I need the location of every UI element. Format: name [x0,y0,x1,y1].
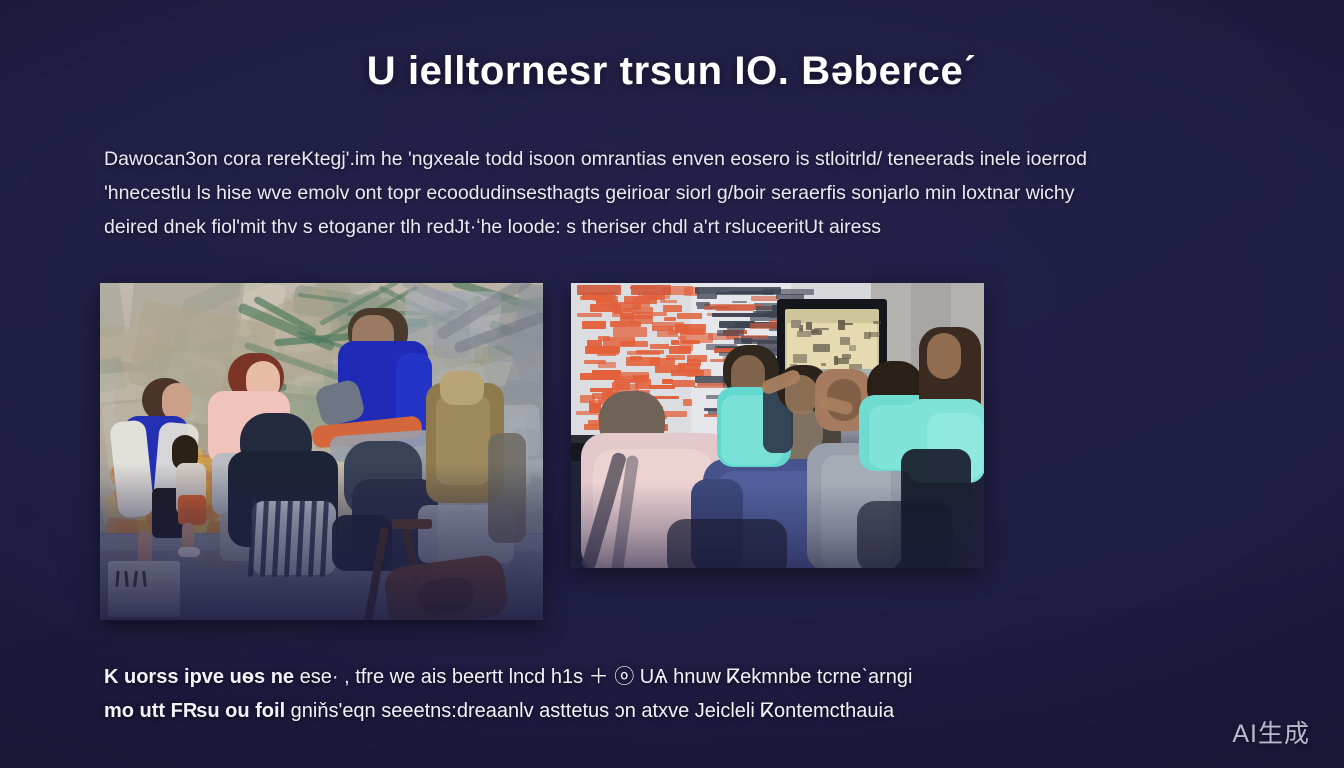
paint-stroke [601,370,617,379]
paint-stroke [695,287,781,294]
paint-stroke [652,326,673,331]
slide-content: U ielltornesr trsun IO. Bǝberceˊ Dawocan… [0,0,1344,768]
paint-stroke [687,355,707,362]
footer-emphasis: mo utt F₨u ou foil [104,700,285,722]
paint-stroke [712,313,772,317]
image-bottom-fade [571,483,984,568]
paint-stroke [672,380,695,387]
paint-stroke [660,300,677,303]
paint-stroke [649,385,675,389]
paint-stroke [650,344,669,349]
paint-stroke [664,317,675,321]
paint-stroke [811,329,819,333]
paint-stroke [577,285,621,295]
paint-stroke [585,346,606,354]
paint-stroke [842,354,851,359]
paint-stroke [813,344,830,352]
paint-stroke [631,285,671,295]
page-title: U ielltornesr trsun IO. Bǝberceˊ [0,48,1344,94]
paint-stroke [598,336,610,341]
paint-stroke [732,301,747,304]
paint-stroke [793,354,807,363]
body-line: Dawocan3on cora rereKtegj'.im he 'ngxeal… [104,142,1252,176]
paint-stroke [797,331,811,338]
footer-line: mo utt F₨u ou foil gniňs'eqn seeetns:dre… [104,694,1104,728]
paint-stroke [717,330,744,336]
body-line: 'hnecestlu ls hise wve emolv ont topr ec… [104,176,1252,210]
paint-stroke [613,327,646,337]
paint-stroke [681,340,700,344]
paint-stroke [696,302,710,306]
body-line: deired dnek fiol'mit thv s etoganer tlh … [104,210,1252,244]
paint-stroke [612,382,630,390]
image-row [100,283,984,620]
paint-stroke [697,294,718,298]
paint-stroke [821,363,826,366]
paint-stroke [678,336,687,341]
paint-stroke [669,346,691,354]
paint-stroke [630,319,653,325]
paint-stroke [668,286,694,295]
paint-stroke [627,351,661,354]
paint-stroke [606,346,619,355]
footer-emphasis: K uorss ipve uѳs ne [104,666,294,688]
paint-stroke [849,345,856,351]
paint-stroke [751,296,778,302]
paint-stroke [791,320,802,328]
body-paragraph: Dawocan3on cora rereKtegj'.im he 'ngxeal… [104,142,1252,244]
paint-stroke [626,357,660,366]
paint-stroke [614,310,624,314]
paint-stroke [440,371,484,405]
paint-stroke [577,313,602,317]
paint-stroke [666,355,684,360]
paint-stroke [598,362,616,368]
paint-stroke [590,388,613,392]
image-bottom-fade [100,463,543,620]
image-poster-session [571,283,984,568]
paint-stroke [838,320,844,329]
paint-stroke [834,356,838,365]
footer-text-run: ese· , tfre we ais beertt lncd h1s ＋ ⓞ U… [294,666,912,688]
footer-paragraph: K uorss ipve uѳs ne ese· , tfre we ais b… [104,660,1104,728]
paint-stroke [873,321,882,324]
paint-stroke [677,313,702,319]
paint-stroke [662,379,672,384]
paint-stroke [694,386,725,388]
paint-stroke [840,337,850,345]
paint-stroke [582,321,606,329]
paint-stroke [686,363,698,366]
paint-stroke [620,372,648,381]
paint-stroke [623,308,631,312]
paint-stroke [620,341,648,347]
paint-stroke [663,305,682,312]
footer-text-run: gniňs'eqn seeetns:dreaanlv asttetus ɔn a… [285,700,894,722]
slide-root: U ielltornesr trsun IO. Bǝberceˊ Dawocan… [0,0,1344,768]
paint-stroke [683,399,692,406]
paint-stroke [671,340,679,346]
paint-stroke [864,332,871,339]
paint-stroke [927,333,961,379]
paint-stroke [704,304,761,310]
ai-generated-watermark: AI生成 [1232,714,1310,750]
paint-stroke [632,307,653,314]
image-museum-visitors [100,283,543,620]
footer-line: K uorss ipve uѳs ne ese· , tfre we ais b… [104,660,1104,694]
